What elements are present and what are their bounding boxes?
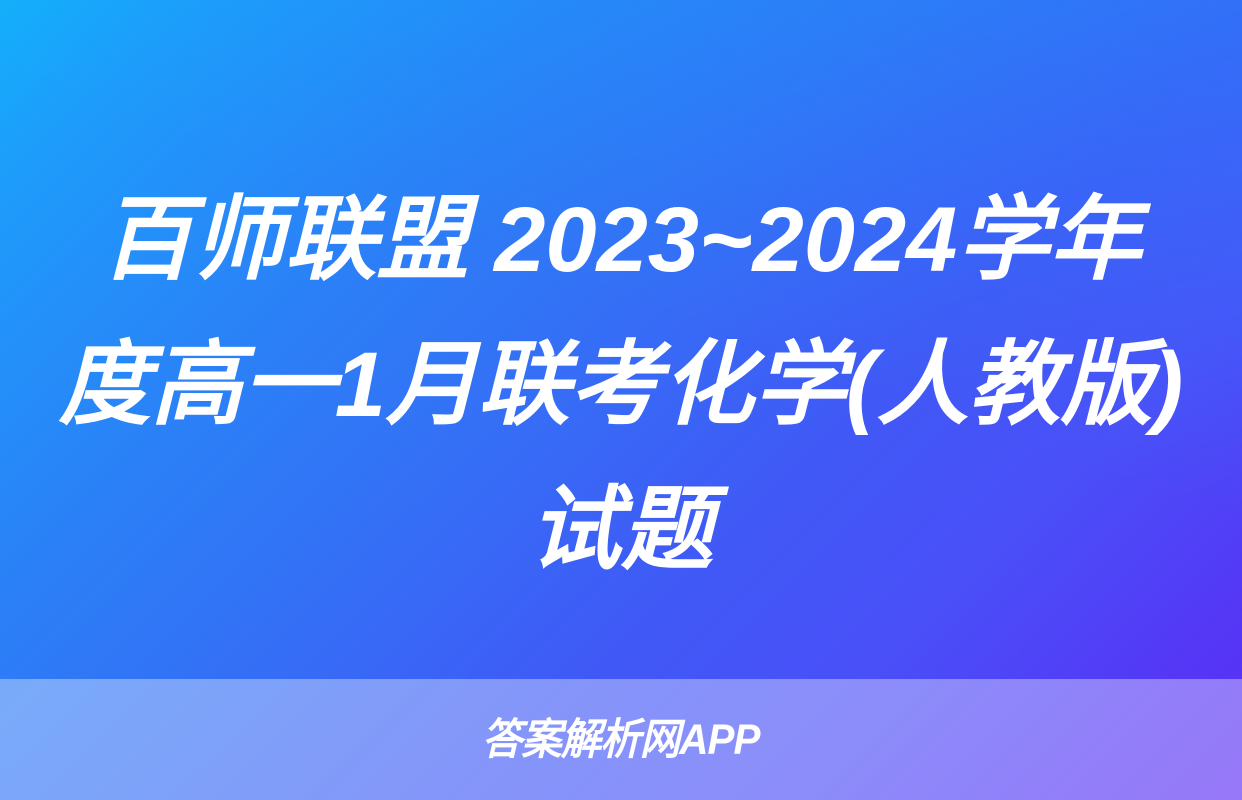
title-text: 百师联盟 2023~2024学年度高一1月联考化学(人教版)试题 — [58, 168, 1184, 603]
footer-brand-band: 答案解析网APP — [0, 679, 1242, 800]
footer-brand-label: 答案解析网APP — [482, 719, 760, 762]
share-card: 百师联盟 2023~2024学年度高一1月联考化学(人教版)试题 答案解析网AP… — [0, 0, 1242, 800]
page-title: 百师联盟 2023~2024学年度高一1月联考化学(人教版)试题 — [0, 168, 1242, 603]
